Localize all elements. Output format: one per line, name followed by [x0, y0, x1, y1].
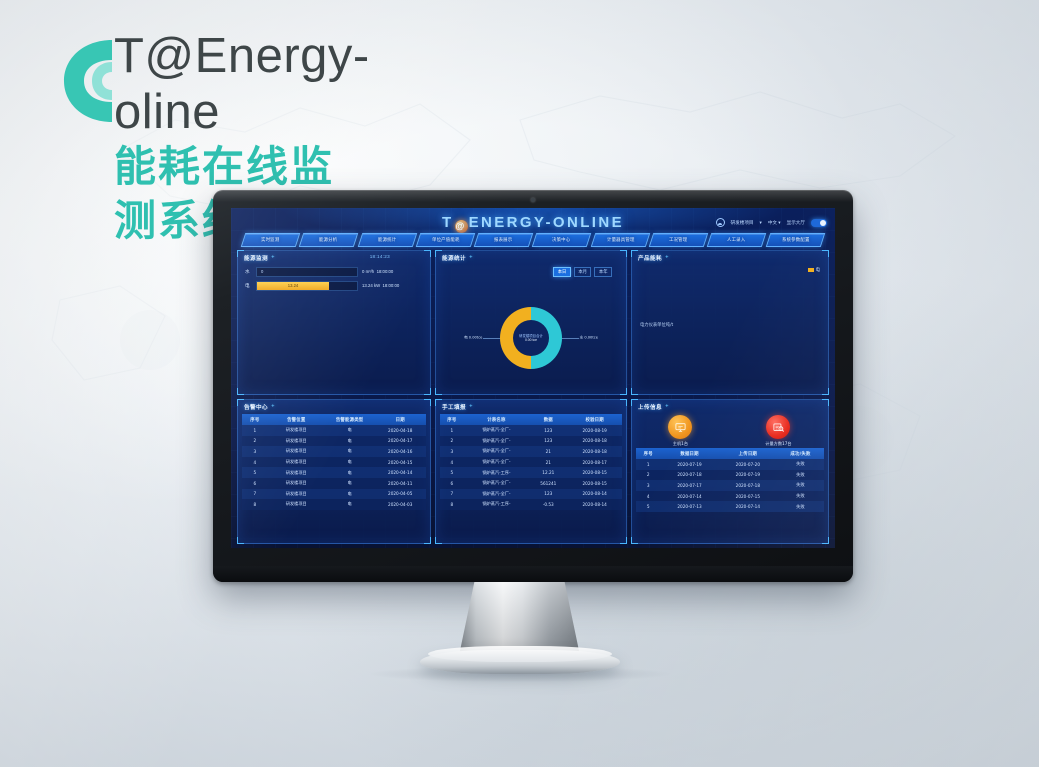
meter-row-electric: 电 13.24 13.24 kW 18:00:00 — [245, 281, 424, 290]
nav-item-5[interactable]: 决策中心 — [532, 233, 592, 247]
panel-expand-icon[interactable]: + — [665, 255, 669, 260]
table-cell: 电 — [325, 489, 375, 500]
donut-center: 研发楼项目合计 0.00 tce — [513, 320, 549, 356]
table-cell: 1 — [242, 425, 268, 436]
table-cell: 4 — [242, 457, 268, 468]
panel-title: 告警中心+ — [244, 403, 268, 411]
table-cell: 2020-04-16 — [374, 446, 426, 457]
table-head: 序号数据日期上传日期成功/失败 — [636, 448, 824, 459]
table-cell: 锅炉蒸汽-工序- — [464, 467, 530, 478]
nav-label: 单位产值能耗 — [432, 237, 460, 243]
donut-center-title: 研发楼项目合计 — [519, 333, 543, 338]
table-body: 1研发楼项目电2020-04-182研发楼项目电2020-04-173研发楼项目… — [242, 425, 426, 510]
panel-product-energy: 产品能耗+ 电 电力仪表单位吨/t — [631, 250, 829, 395]
table-row[interactable]: 4锅炉蒸汽-全厂-212020-08-17 — [440, 457, 622, 468]
table-cell: 锅炉蒸汽-全厂- — [464, 446, 530, 457]
column-header: 成功/失败 — [777, 448, 824, 459]
column-header: 日期 — [374, 414, 426, 425]
column-header: 告警能源类型 — [325, 414, 375, 425]
table-cell: 锅炉蒸汽-全厂- — [464, 436, 530, 447]
upload-stat-label: 主机1台 — [673, 441, 688, 447]
table-cell: 研发楼项目 — [268, 446, 325, 457]
table-cell: -0.53 — [529, 499, 567, 510]
table-cell: 2020-08-19 — [567, 425, 622, 436]
table-cell: 2020-07-15 — [719, 491, 777, 502]
table-cell: 2020-07-14 — [719, 501, 777, 512]
nav-item-1[interactable]: 能源分析 — [299, 233, 359, 247]
manual-table-wrap: 序号计表名称数据校验日期 1锅炉蒸汽-全厂-1232020-08-192锅炉蒸汽… — [440, 414, 622, 541]
table-row[interactable]: 2锅炉蒸汽-全厂-1232020-08-18 — [440, 436, 622, 447]
upload-stat-label: 计量方数17台 — [765, 441, 791, 447]
table-row[interactable]: 3锅炉蒸汽-全厂-212020-08-18 — [440, 446, 622, 457]
meter-reading-value: 0 m³/h — [362, 269, 374, 274]
table-cell: 3 — [636, 480, 660, 491]
toggle-label: 显示大厅 — [787, 220, 805, 226]
table-row[interactable]: 12020-07-192020-07-20失败 — [636, 459, 824, 470]
main-nav: 实时监测 能源分析 能源统计 单位产值能耗 报表展示 决策中心 计量器具管理 工… — [243, 233, 823, 246]
table-cell: 研发楼项目 — [268, 478, 325, 489]
table-cell: 研发楼项目 — [268, 489, 325, 500]
column-header: 数据日期 — [660, 448, 718, 459]
table-cell: 2020-08-18 — [567, 446, 622, 457]
table-cell: 5 — [636, 501, 660, 512]
nav-label: 人工录入 — [728, 237, 746, 243]
upload-stat-host[interactable]: 主机1台 — [668, 415, 692, 447]
monitor-screen: T@ENERGY-ONLINE 研发楼项目 ▾ 中文 ▾ 显示大厅 实时监测 能… — [231, 208, 835, 548]
column-header: 校验日期 — [567, 414, 622, 425]
table-cell: 1 — [440, 425, 464, 436]
table-cell: 2020-07-18 — [660, 470, 718, 481]
table-cell: 2020-04-03 — [374, 499, 426, 510]
table-row[interactable]: 8研发楼项目电2020-04-03 — [242, 499, 426, 510]
upload-stat-icons: 主机1台 — [632, 415, 828, 447]
dashboard-panels: 能源监测+ 18:14:23 水 0 0 m³/h 18:00:00 — [237, 250, 829, 544]
panel-title: 手工填报+ — [442, 403, 466, 411]
panel-energy-stats: 能源统计+ 本日 本月 本年 电 0.00tce 水 0.00tce — [435, 250, 627, 395]
panel-expand-icon[interactable]: + — [665, 404, 669, 409]
table-cell: 锅炉蒸汽-全厂- — [464, 457, 530, 468]
panel-row-top: 能源监测+ 18:14:23 水 0 0 m³/h 18:00:00 — [237, 250, 829, 395]
table-cell: 21 — [529, 446, 567, 457]
table-row[interactable]: 7研发楼项目电2020-04-05 — [242, 489, 426, 500]
logo-prefix: T — [442, 214, 454, 231]
meter-name: 水 — [245, 269, 252, 275]
table-row[interactable]: 6锅炉蒸汽-全厂-5612412020-08-15 — [440, 478, 622, 489]
table-cell: 4 — [636, 491, 660, 502]
table-header-row: 序号告警位置告警能源类型日期 — [242, 414, 426, 425]
table-row[interactable]: 52020-07-132020-07-14失败 — [636, 501, 824, 512]
donut-center-value: 0.00 tce — [525, 338, 537, 342]
table-cell: 研发楼项目 — [268, 467, 325, 478]
donut-chart[interactable]: 研发楼项目合计 0.00 tce — [500, 307, 562, 369]
nav-label: 能源统计 — [378, 237, 396, 243]
table-row[interactable]: 7锅炉蒸汽-全厂-1232020-08-14 — [440, 489, 622, 500]
panel-manual-entry: 手工填报+ 序号计表名称数据校验日期 1锅炉蒸汽-全厂-1232020-08-1… — [435, 399, 627, 544]
table-cell: 561241 — [529, 478, 567, 489]
dashboard-topbar: T@ENERGY-ONLINE 研发楼项目 ▾ 中文 ▾ 显示大厅 实时监测 能… — [231, 208, 835, 250]
table-cell: 电 — [325, 467, 375, 478]
table-header-row: 序号数据日期上传日期成功/失败 — [636, 448, 824, 459]
table-cell: 2020-08-17 — [567, 457, 622, 468]
table-cell: 2020-04-05 — [374, 489, 426, 500]
table-row[interactable]: 1研发楼项目电2020-04-18 — [242, 425, 426, 436]
nav-label: 能源分析 — [320, 237, 338, 243]
panel-title: 上传信息+ — [638, 403, 662, 411]
table-cell: 失败 — [777, 480, 824, 491]
nav-label: 工况管理 — [670, 237, 688, 243]
alarm-table-wrap: 序号告警位置告警能源类型日期 1研发楼项目电2020-04-182研发楼项目电2… — [242, 414, 426, 541]
table-cell: 7 — [440, 489, 464, 500]
panel-energy-monitor: 能源监测+ 18:14:23 水 0 0 m³/h 18:00:00 — [237, 250, 431, 395]
table-cell: 6 — [242, 478, 268, 489]
table-cell: 锅炉蒸汽-全厂- — [464, 425, 530, 436]
table-cell: 2020-08-15 — [567, 478, 622, 489]
column-header: 数据 — [529, 414, 567, 425]
clock-label: 18:14:23 — [370, 254, 390, 259]
table-cell: 锅炉蒸汽-工序- — [464, 499, 530, 510]
column-header: 序号 — [636, 448, 660, 459]
column-header: 告警位置 — [268, 414, 325, 425]
table-cell: 2020-08-15 — [567, 467, 622, 478]
table-cell: 研发楼项目 — [268, 457, 325, 468]
table-cell: 2020-07-19 — [660, 459, 718, 470]
panel-expand-icon[interactable]: + — [469, 404, 473, 409]
table-cell: 2 — [440, 436, 464, 447]
panel-title: 能源统计+ — [442, 254, 466, 262]
panel-title-text: 手工填报 — [442, 405, 466, 411]
meter-timestamp: 18:00:00 — [383, 283, 400, 288]
table-cell: 锅炉蒸汽-全厂- — [464, 489, 530, 500]
legend-label: 电 — [816, 267, 820, 273]
table-row[interactable]: 8锅炉蒸汽-工序--0.532020-08-14 — [440, 499, 622, 510]
table-cell: 6 — [440, 478, 464, 489]
nav-item-7[interactable]: 工况管理 — [649, 233, 709, 247]
chart-legend: 电 — [808, 267, 820, 273]
panel-upload-info: 上传信息+ 主机1台 — [631, 399, 829, 544]
table-cell: 失败 — [777, 491, 824, 502]
nav-item-8[interactable]: 人工录入 — [707, 233, 767, 247]
column-header: 序号 — [440, 414, 464, 425]
alarm-table: 序号告警位置告警能源类型日期 1研发楼项目电2020-04-182研发楼项目电2… — [242, 414, 426, 510]
panel-title-text: 产品能耗 — [638, 256, 662, 262]
table-header-row: 序号计表名称数据校验日期 — [440, 414, 622, 425]
manual-entry-table: 序号计表名称数据校验日期 1锅炉蒸汽-全厂-1232020-08-192锅炉蒸汽… — [440, 414, 622, 510]
c-logo-mark — [54, 28, 122, 134]
table-row[interactable]: 32020-07-172020-07-18失败 — [636, 480, 824, 491]
table-cell: 电 — [325, 425, 375, 436]
table-row[interactable]: 4研发楼项目电2020-04-15 — [242, 457, 426, 468]
column-header: 上传日期 — [719, 448, 777, 459]
meter-reading-value: 13.24 kW — [362, 283, 380, 288]
panel-title: 能源监测+ — [244, 254, 268, 262]
nav-label: 决策中心 — [553, 237, 571, 243]
table-cell: 研发楼项目 — [268, 499, 325, 510]
meter-bar: 13.24 — [256, 281, 358, 291]
table-cell: 2020-04-18 — [374, 425, 426, 436]
table-body: 1锅炉蒸汽-全厂-1232020-08-192锅炉蒸汽-全厂-1232020-0… — [440, 425, 622, 510]
panel-expand-icon[interactable]: + — [271, 255, 275, 260]
table-cell: 研发楼项目 — [268, 436, 325, 447]
meter-bar-value: 13.24 — [257, 283, 329, 288]
table-row[interactable]: 22020-07-182020-07-19失败 — [636, 470, 824, 481]
nav-label: 实时监测 — [261, 237, 279, 243]
meter-bar-value: 0 — [261, 269, 263, 274]
axis-note: 电力仪表单位吨/t — [640, 322, 673, 328]
table-cell: 3 — [440, 446, 464, 457]
table-cell: 失败 — [777, 501, 824, 512]
language-selector[interactable]: 中文 ▾ — [768, 220, 781, 226]
upload-table: 序号数据日期上传日期成功/失败 12020-07-192020-07-20失败2… — [636, 448, 824, 512]
brand-en-title: T@Energy-oline — [114, 28, 370, 140]
nav-label: 系统参数配置 — [782, 237, 810, 243]
table-cell: 2020-08-14 — [567, 489, 622, 500]
table-cell: 123 — [529, 436, 567, 447]
tab-today[interactable]: 本日 — [553, 267, 571, 277]
table-cell: 8 — [440, 499, 464, 510]
meter-row-water: 水 0 0 m³/h 18:00:00 — [245, 267, 424, 276]
table-cell: 2020-07-17 — [660, 480, 718, 491]
user-bar: 研发楼项目 ▾ 中文 ▾ 显示大厅 — [716, 218, 827, 227]
table-cell: 锅炉蒸汽-全厂- — [464, 478, 530, 489]
table-row[interactable]: 42020-07-142020-07-15失败 — [636, 491, 824, 502]
user-icon — [716, 218, 725, 227]
donut-label-left: 电 0.00tce — [464, 335, 482, 340]
table-cell: 2020-07-19 — [719, 470, 777, 481]
nav-item-3[interactable]: 单位产值能耗 — [416, 233, 476, 247]
table-head: 序号计表名称数据校验日期 — [440, 414, 622, 425]
dashboard-ui: T@ENERGY-ONLINE 研发楼项目 ▾ 中文 ▾ 显示大厅 实时监测 能… — [231, 208, 835, 548]
donut-chart-wrap: 电 0.00tce 水 0.00tce 研发楼项目合计 0.00 tce — [436, 285, 626, 390]
meter-reading: 13.24 kW 18:00:00 — [362, 283, 424, 288]
table-cell: 2020-08-18 — [567, 436, 622, 447]
table-cell: 2020-04-14 — [374, 467, 426, 478]
table-cell: 2020-08-14 — [567, 499, 622, 510]
table-cell: 2020-07-13 — [660, 501, 718, 512]
panel-expand-icon[interactable]: + — [469, 255, 473, 260]
column-header: 计表名称 — [464, 414, 530, 425]
panel-title: 产品能耗+ — [638, 254, 662, 262]
table-cell: 研发楼项目 — [268, 425, 325, 436]
panel-row-bottom: 告警中心+ 序号告警位置告警能源类型日期 1研发楼项目电2020-04-182研… — [237, 399, 829, 544]
nav-label: 计量器具管理 — [607, 237, 635, 243]
monitor-host-icon — [668, 415, 692, 439]
table-cell: 4 — [440, 457, 464, 468]
webcam-dot — [531, 198, 535, 202]
table-cell: 123 — [529, 425, 567, 436]
upload-table-wrap: 序号数据日期上传日期成功/失败 12020-07-192020-07-20失败2… — [636, 448, 824, 541]
tab-month[interactable]: 本月 — [574, 267, 592, 277]
table-cell: 21 — [529, 457, 567, 468]
meter-bar: 0 — [256, 267, 358, 277]
monitor-chin — [213, 566, 853, 582]
screenshot-root: T@Energy-oline 能耗在线监测系统 T@ENERGY-ONLINE … — [0, 0, 1039, 767]
panel-alarm-center: 告警中心+ 序号告警位置告警能源类型日期 1研发楼项目电2020-04-182研… — [237, 399, 431, 544]
table-cell: 2020-07-20 — [719, 459, 777, 470]
table-cell: 2020-04-17 — [374, 436, 426, 447]
panel-title-text: 能源监测 — [244, 256, 268, 262]
table-row[interactable]: 3研发楼项目电2020-04-16 — [242, 446, 426, 457]
column-header: 序号 — [242, 414, 268, 425]
table-row[interactable]: 5研发楼项目电2020-04-14 — [242, 467, 426, 478]
donut-label-right: 水 0.00tce — [580, 335, 598, 340]
nav-item-4[interactable]: 报表展示 — [474, 233, 534, 247]
legend-swatch — [808, 268, 814, 272]
table-cell: 失败 — [777, 459, 824, 470]
table-row[interactable]: 5锅炉蒸汽-工序-12.212020-08-15 — [440, 467, 622, 478]
table-cell: 8 — [242, 499, 268, 510]
display-toggle[interactable] — [811, 219, 827, 227]
table-cell: 电 — [325, 457, 375, 468]
username-label[interactable]: 研发楼项目 — [731, 220, 754, 226]
meter-timestamp: 18:00:00 — [377, 269, 394, 274]
table-cell: 5 — [440, 467, 464, 478]
table-row[interactable]: 1锅炉蒸汽-全厂-1232020-08-19 — [440, 425, 622, 436]
nav-item-2[interactable]: 能源统计 — [357, 233, 417, 247]
nav-label: 报表展示 — [495, 237, 513, 243]
table-row[interactable]: 2研发楼项目电2020-04-17 — [242, 436, 426, 447]
table-cell: 5 — [242, 467, 268, 478]
logo-suffix: ENERGY-ONLINE — [469, 214, 624, 231]
panel-expand-icon[interactable]: + — [271, 404, 275, 409]
table-body: 12020-07-192020-07-20失败22020-07-182020-0… — [636, 459, 824, 512]
table-cell: 1 — [636, 459, 660, 470]
meter-bar-fill: 13.24 — [257, 282, 329, 290]
table-cell: 12.21 — [529, 467, 567, 478]
tab-year[interactable]: 本年 — [594, 267, 612, 277]
table-cell: 电 — [325, 499, 375, 510]
panel-title-text: 告警中心 — [244, 405, 268, 411]
table-row[interactable]: 6研发楼项目电2020-04-11 — [242, 478, 426, 489]
monitor-stand-base-top — [428, 646, 612, 662]
meter-reading: 0 m³/h 18:00:00 — [362, 269, 424, 274]
table-cell: 2020-07-14 — [660, 491, 718, 502]
monitor-drop-shadow — [370, 666, 670, 682]
table-cell: 2020-04-11 — [374, 478, 426, 489]
document-search-icon — [766, 415, 790, 439]
panel-title-text: 能源统计 — [442, 256, 466, 262]
monitor: T@ENERGY-ONLINE 研发楼项目 ▾ 中文 ▾ 显示大厅 实时监测 能… — [213, 190, 853, 582]
table-cell: 电 — [325, 478, 375, 489]
table-cell: 失败 — [777, 470, 824, 481]
table-cell: 电 — [325, 446, 375, 457]
table-cell: 2 — [242, 436, 268, 447]
table-cell: 2 — [636, 470, 660, 481]
meter-name: 电 — [245, 283, 252, 289]
nav-item-6[interactable]: 计量器具管理 — [591, 233, 651, 247]
nav-item-9[interactable]: 系统参数配置 — [765, 233, 825, 247]
table-cell: 2020-07-18 — [719, 480, 777, 491]
chevron-down-icon[interactable]: ▾ — [760, 220, 762, 226]
panel-title-text: 上传信息 — [638, 405, 662, 411]
period-tabs: 本日 本月 本年 — [553, 267, 612, 277]
nav-item-0[interactable]: 实时监测 — [241, 233, 301, 247]
upload-stat-meters[interactable]: 计量方数17台 — [765, 415, 791, 447]
logo-at-icon: @ — [455, 220, 468, 233]
meter-list: 水 0 0 m³/h 18:00:00 电 — [245, 267, 424, 295]
table-cell: 2020-04-15 — [374, 457, 426, 468]
table-cell: 电 — [325, 436, 375, 447]
dashboard-logo: T@ENERGY-ONLINE — [442, 214, 624, 233]
table-cell: 7 — [242, 489, 268, 500]
table-cell: 3 — [242, 446, 268, 457]
table-head: 序号告警位置告警能源类型日期 — [242, 414, 426, 425]
table-cell: 123 — [529, 489, 567, 500]
